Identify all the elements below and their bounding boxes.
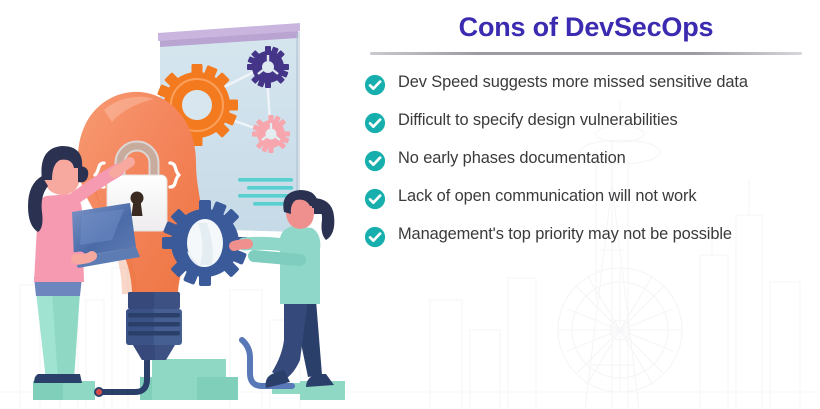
check-circle-icon	[364, 226, 386, 248]
list-item: Dev Speed suggests more missed sensitive…	[364, 72, 820, 96]
gear-purple-icon	[247, 46, 289, 88]
list-item-label: Lack of open communication will not work	[398, 186, 696, 207]
check-circle-icon	[364, 112, 386, 134]
content-panel: Cons of DevSecOps Dev Speed suggests mor…	[352, 0, 820, 409]
list-item: No early phases documentation	[364, 148, 820, 172]
page-title: Cons of DevSecOps	[352, 12, 820, 43]
list-item: Difficult to specify design vulnerabilit…	[364, 110, 820, 134]
list-item-label: Difficult to specify design vulnerabilit…	[398, 110, 678, 131]
bulb-base	[126, 292, 182, 360]
cons-list: Dev Speed suggests more missed sensitive…	[352, 72, 820, 248]
list-item: Lack of open communication will not work	[364, 186, 820, 210]
check-circle-icon	[364, 188, 386, 210]
slide-root: Cons of DevSecOps Dev Speed suggests mor…	[0, 0, 820, 409]
gear-pink-icon	[252, 115, 290, 153]
check-circle-icon	[364, 74, 386, 96]
check-circle-icon	[364, 150, 386, 172]
list-item-label: Dev Speed suggests more missed sensitive…	[398, 72, 748, 93]
list-item-label: Management's top priority may not be pos…	[398, 224, 732, 245]
list-item-label: No early phases documentation	[398, 148, 626, 169]
list-item: Management's top priority may not be pos…	[364, 224, 820, 248]
title-divider	[370, 52, 802, 55]
devsecops-illustration	[0, 0, 345, 409]
